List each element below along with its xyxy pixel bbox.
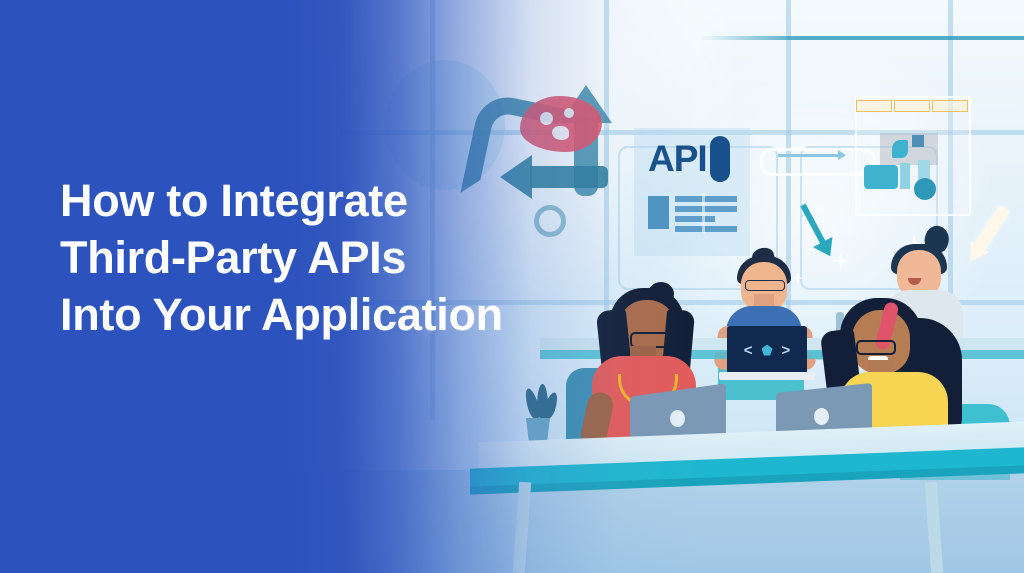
laptop-logo xyxy=(814,408,829,425)
title-line-3: Into Your Application xyxy=(60,286,580,343)
browser-tab xyxy=(894,100,930,112)
woman-yellow-glasses xyxy=(856,340,896,355)
api-card-divider xyxy=(702,193,705,233)
laptop-code-symbols: < > xyxy=(727,326,807,374)
browser-graphic-shape xyxy=(914,178,936,200)
code-bracket-right: > xyxy=(782,342,791,359)
browser-graphic-shape xyxy=(864,165,898,189)
browser-tab xyxy=(856,100,892,112)
gem-icon xyxy=(762,345,773,356)
browser-tab-bar xyxy=(856,100,968,112)
browser-graphic-shape xyxy=(892,140,908,158)
man-blue-laptop-base xyxy=(719,372,815,380)
browser-tab xyxy=(932,100,968,112)
api-dot-shape xyxy=(710,136,730,182)
browser-graphic-shape xyxy=(912,135,924,147)
article-hero-banner: API xyxy=(0,0,1024,573)
browser-graphic-shape xyxy=(900,163,910,189)
code-bracket-left: < xyxy=(744,342,753,359)
title-line-1: How to Integrate xyxy=(60,172,580,229)
man-blue-glasses xyxy=(745,280,785,291)
page-title: How to Integrate Third-Party APIs Into Y… xyxy=(60,172,580,343)
title-line-2: Third-Party APIs xyxy=(60,229,580,286)
right-arrow-icon xyxy=(778,154,844,157)
ceiling-rail xyxy=(700,36,1024,40)
